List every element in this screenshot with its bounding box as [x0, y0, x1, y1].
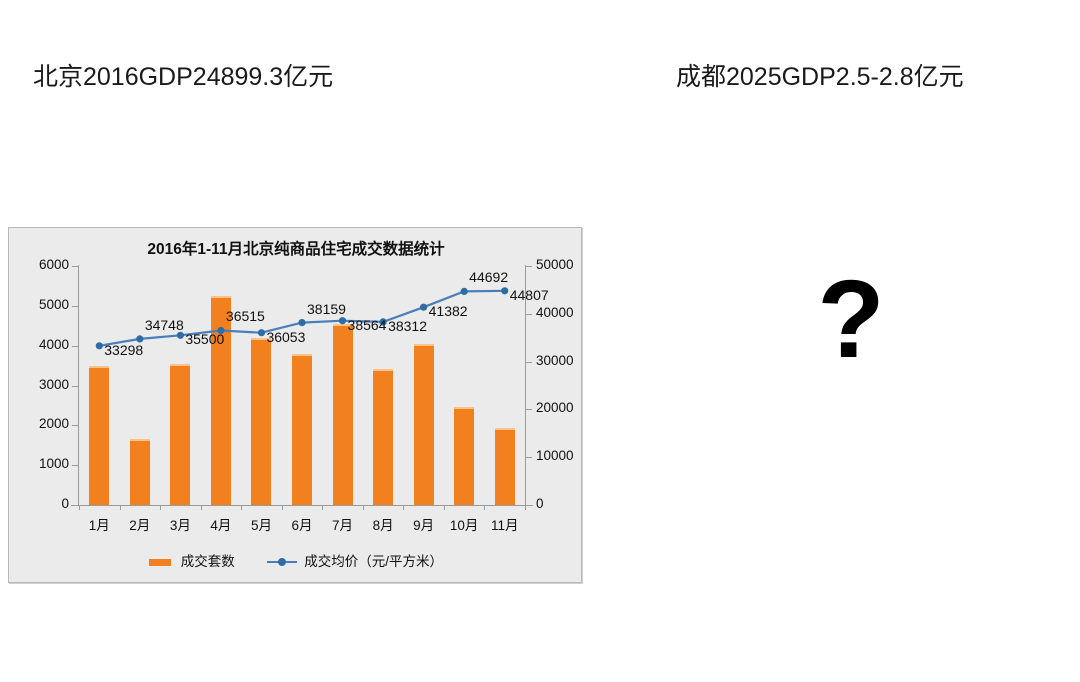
line-marker: [461, 288, 468, 295]
line-point-label: 34748: [145, 317, 184, 333]
bar-swatch-icon: [149, 559, 171, 566]
x-axis-tick: [322, 505, 323, 510]
left-axis-tick: [72, 346, 78, 347]
legend-item-bars: 成交套数: [149, 550, 235, 570]
right-axis-tick: [526, 457, 532, 458]
line-series: [79, 266, 525, 505]
left-axis-tick: [72, 465, 78, 466]
right-axis-label: 40000: [536, 305, 588, 320]
x-axis-tick: [160, 505, 161, 510]
x-axis-tick: [79, 505, 80, 510]
left-axis-label: 5000: [17, 297, 69, 312]
line-point-label: 36053: [266, 329, 305, 345]
right-axis-label: 0: [536, 496, 588, 511]
right-axis-tick: [526, 505, 532, 506]
right-axis-tick: [526, 314, 532, 315]
left-axis-label: 3000: [17, 377, 69, 392]
line-point-label: 38159: [307, 301, 346, 317]
line-point-label: 44692: [469, 269, 508, 285]
line-swatch-icon: [267, 557, 297, 567]
left-axis-label: 0: [17, 496, 69, 511]
question-mark: ?: [816, 267, 886, 377]
line-point-label: 33298: [104, 342, 143, 358]
chart-panel: 2016年1-11月北京纯商品住宅成交数据统计 0100020003000400…: [8, 227, 582, 583]
line-point-label: 38312: [388, 318, 427, 334]
left-axis-label: 4000: [17, 337, 69, 352]
headline-right: 成都2025GDP2.5-2.8亿元: [676, 57, 964, 93]
right-axis-label: 50000: [536, 257, 588, 272]
x-axis-tick: [241, 505, 242, 510]
right-axis-tick: [526, 362, 532, 363]
left-axis-tick: [72, 386, 78, 387]
x-axis-tick: [282, 505, 283, 510]
chart-title: 2016年1-11月北京纯商品住宅成交数据统计: [9, 237, 583, 259]
left-axis-tick: [72, 505, 78, 506]
line-point-label: 36515: [226, 308, 265, 324]
x-axis-tick: [403, 505, 404, 510]
right-axis-tick: [526, 409, 532, 410]
x-axis-label: 11月: [481, 514, 529, 534]
line-marker: [298, 319, 305, 326]
line-point-label: 38564: [348, 317, 387, 333]
left-axis-label: 6000: [17, 257, 69, 272]
x-axis-tick: [444, 505, 445, 510]
x-axis-tick: [201, 505, 202, 510]
line-point-label: 41382: [429, 303, 468, 319]
right-axis-tick: [526, 266, 532, 267]
left-axis-tick: [72, 425, 78, 426]
right-axis-label: 30000: [536, 353, 588, 368]
x-axis-tick: [120, 505, 121, 510]
line-marker: [501, 287, 508, 294]
line-marker: [420, 304, 427, 311]
x-axis-line: [71, 505, 533, 506]
line-marker: [96, 342, 103, 349]
right-axis-label: 10000: [536, 448, 588, 463]
legend-item-line: 成交均价（元/平方米）: [267, 550, 444, 570]
left-axis-label: 1000: [17, 456, 69, 471]
left-axis-label: 2000: [17, 416, 69, 431]
line-marker: [339, 317, 346, 324]
x-axis-tick: [525, 505, 526, 510]
right-axis-label: 20000: [536, 400, 588, 415]
x-axis-tick: [484, 505, 485, 510]
left-axis-tick: [72, 306, 78, 307]
line-marker: [258, 329, 265, 336]
left-axis-tick: [72, 266, 78, 267]
line-point-label: 35500: [185, 331, 224, 347]
line-point-label: 44807: [510, 287, 549, 303]
chart-legend: 成交套数 成交均价（元/平方米）: [9, 550, 583, 570]
legend-label-line: 成交均价（元/平方米）: [304, 554, 443, 569]
headline-left: 北京2016GDP24899.3亿元: [33, 57, 333, 93]
x-axis-tick: [363, 505, 364, 510]
legend-label-bars: 成交套数: [181, 554, 235, 569]
